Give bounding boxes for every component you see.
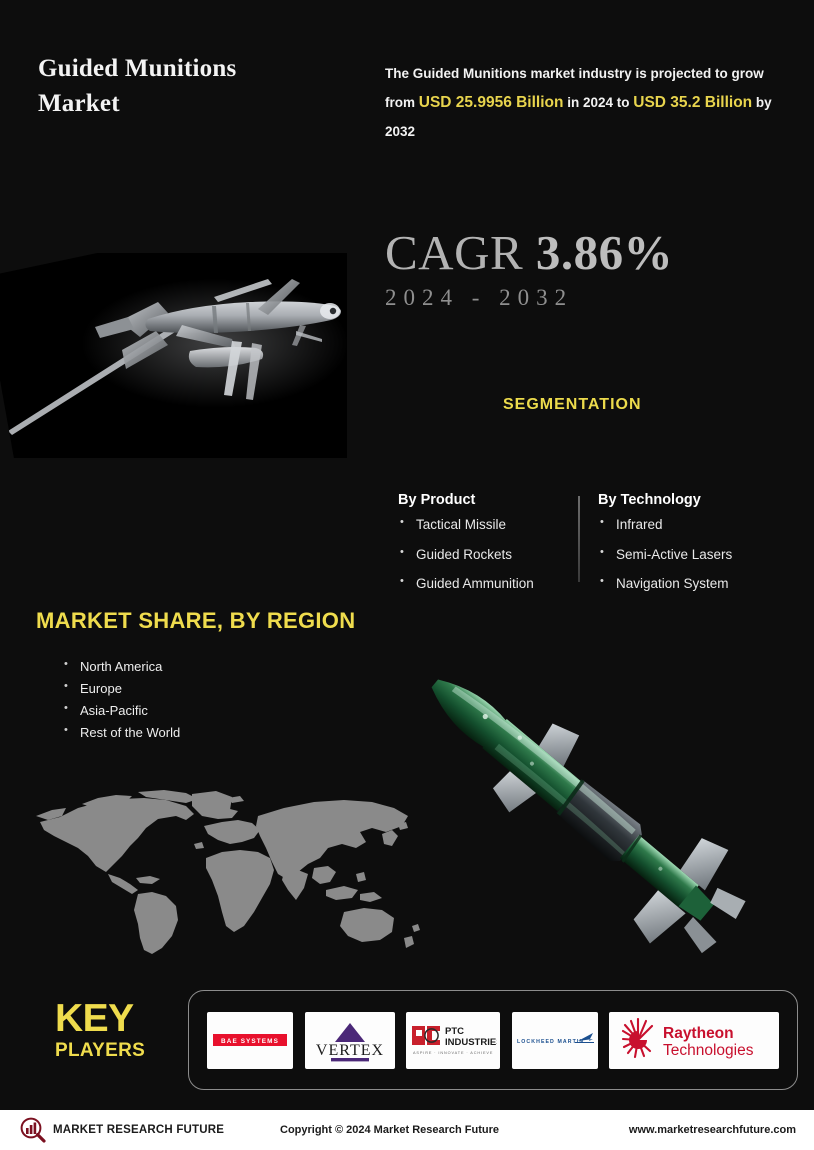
- title-line-2: Market: [38, 90, 120, 117]
- segmentation-heading: SEGMENTATION: [503, 396, 642, 414]
- svg-text:BAE SYSTEMS: BAE SYSTEMS: [221, 1038, 279, 1045]
- segment-title-product: By Product: [398, 492, 534, 508]
- list-item: Rest of the World: [62, 726, 180, 739]
- infographic-canvas: Guided Munitions Market The Guided Munit…: [0, 0, 814, 1150]
- list-item: Europe: [62, 682, 180, 695]
- svg-text:Raytheon: Raytheon: [663, 1025, 734, 1042]
- website-url[interactable]: www.marketresearchfuture.com: [629, 1124, 796, 1136]
- value-2024: USD 25.9956 Billion: [419, 94, 564, 111]
- logo-bae-systems[interactable]: BAE SYSTEMS: [207, 1012, 293, 1069]
- svg-text:VERTEX: VERTEX: [315, 1042, 383, 1059]
- market-research-future-logo-icon: [20, 1117, 46, 1143]
- guided-missile-photo: [0, 253, 347, 458]
- svg-text:PTC: PTC: [445, 1026, 464, 1037]
- svg-text:INDUSTRIES: INDUSTRIES: [445, 1037, 497, 1048]
- title-line-1: Guided Munitions: [38, 55, 236, 82]
- logo-ptc-industries[interactable]: PTC INDUSTRIES ASPIRE · INNOVATE · ACHIE…: [406, 1012, 500, 1069]
- copyright-text: Copyright © 2024 Market Research Future: [280, 1124, 629, 1136]
- list-item: Asia-Pacific: [62, 704, 180, 717]
- market-share-heading: MARKET SHARE, BY REGION: [36, 608, 355, 634]
- segmentation-column-product: By Product Tactical Missile Guided Rocke…: [398, 492, 534, 607]
- market-summary-text: The Guided Munitions market industry is …: [385, 60, 775, 145]
- logo-raytheon-technologies[interactable]: Raytheon Technologies: [609, 1012, 779, 1069]
- list-item: Tactical Missile: [398, 518, 534, 532]
- intro-part-2: in 2024 to: [563, 95, 633, 110]
- cagr-label: CAGR: [385, 225, 523, 280]
- cagr-headline: CAGR 3.86%: [385, 228, 673, 277]
- key-players-line-2: PLAYERS: [55, 1040, 145, 1062]
- list-item: Infrared: [598, 518, 732, 532]
- footer-bar: MARKET RESEARCH FUTURE Copyright © 2024 …: [0, 1110, 814, 1150]
- svg-text:ASPIRE · INNOVATE · ACHIEVE: ASPIRE · INNOVATE · ACHIEVE: [413, 1051, 493, 1055]
- segment-list-product: Tactical Missile Guided Rockets Guided A…: [398, 518, 534, 591]
- value-2032: USD 35.2 Billion: [633, 94, 752, 111]
- brand-block: MARKET RESEARCH FUTURE: [20, 1117, 280, 1143]
- world-map: [26, 786, 432, 956]
- list-item: North America: [62, 660, 180, 673]
- segment-list-technology: Infrared Semi-Active Lasers Navigation S…: [598, 518, 732, 591]
- list-item: Semi-Active Lasers: [598, 548, 732, 562]
- logo-vertex[interactable]: VERTEX: [305, 1012, 395, 1069]
- cagr-value: 3.86%: [536, 225, 673, 280]
- list-item: Guided Rockets: [398, 548, 534, 562]
- segment-title-technology: By Technology: [598, 492, 732, 508]
- brand-name: MARKET RESEARCH FUTURE: [53, 1124, 224, 1136]
- segmentation-column-technology: By Technology Infrared Semi-Active Laser…: [598, 492, 732, 607]
- cagr-block: CAGR 3.86% 2024 - 2032: [385, 228, 673, 311]
- logo-lockheed-martin[interactable]: LOCKHEED MARTIN: [512, 1012, 598, 1069]
- key-players-line-1: KEY: [55, 1000, 145, 1037]
- key-players-logo-strip: BAE SYSTEMS VERTEX PTC INDUSTRIES: [188, 990, 798, 1090]
- svg-text:LOCKHEED MARTIN: LOCKHEED MARTIN: [517, 1039, 584, 1045]
- svg-text:Technologies: Technologies: [663, 1042, 754, 1059]
- market-share-region-list: North America Europe Asia-Pacific Rest o…: [62, 660, 180, 748]
- page-title: Guided Munitions Market: [38, 52, 368, 121]
- cagr-period: 2024 - 2032: [385, 285, 673, 311]
- list-item: Guided Ammunition: [398, 577, 534, 591]
- list-item: Navigation System: [598, 577, 732, 591]
- segmentation-divider: [578, 496, 580, 582]
- key-players-label: KEY PLAYERS: [55, 1000, 145, 1062]
- raytheon-starburst-icon: [623, 1019, 652, 1057]
